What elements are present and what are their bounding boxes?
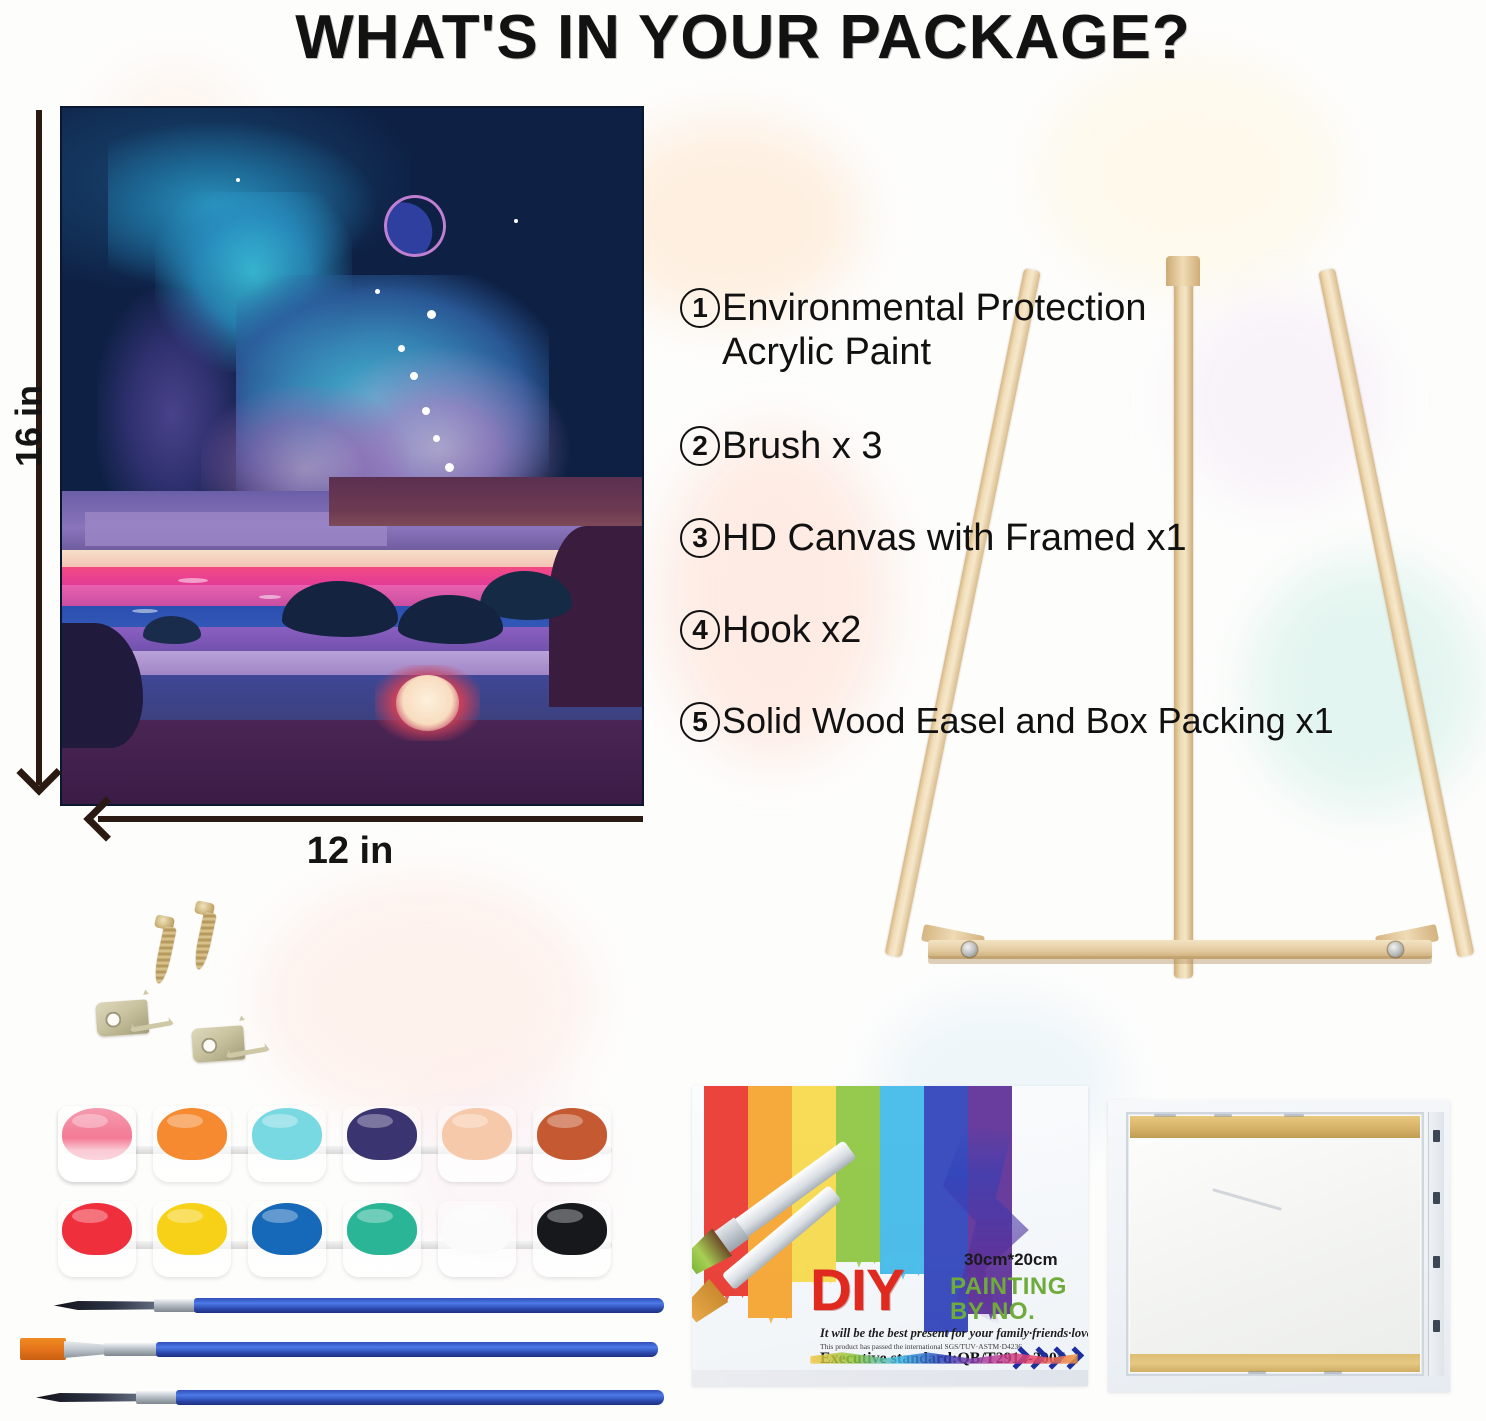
item-number-badge: 3 — [680, 518, 720, 558]
canvas-staple-icon — [1433, 1256, 1440, 1268]
wood-screw-icon — [152, 925, 177, 984]
hanging-hardware — [70, 890, 300, 1080]
paint-pot-rust — [533, 1106, 611, 1182]
paint-pot-light-cyan — [248, 1106, 326, 1182]
width-dimension-label: 12 in — [230, 830, 470, 873]
pot-strip — [64, 1146, 612, 1154]
height-dimension-label: 16 in — [8, 371, 50, 481]
flat-brush-icon — [20, 1342, 658, 1357]
diy-tagline: It will be the best present for your fam… — [820, 1326, 1082, 1341]
diy-brand-text: DIY — [810, 1262, 904, 1320]
round-brush-icon — [54, 1298, 664, 1313]
list-item: 4 Hook x2 — [680, 608, 1480, 652]
painting-preview — [62, 108, 642, 804]
easel-ledge-lip — [928, 956, 1432, 964]
paint-pot-red — [58, 1201, 136, 1277]
package-contents-infographic: WHAT'S IN YOUR PACKAGE? — [0, 0, 1486, 1421]
item-number-badge: 4 — [680, 610, 720, 650]
stretcher-bar-bottom — [1130, 1354, 1420, 1372]
paint-pot-orange — [153, 1106, 231, 1182]
paint-pot — [58, 1106, 136, 1182]
canvas-side-edge — [1428, 1112, 1444, 1376]
diy-size-label: 30cm*20cm — [964, 1250, 1058, 1270]
wood-screw-icon — [192, 911, 217, 970]
list-item: 1 Environmental Protection Acrylic Paint — [680, 286, 1480, 374]
paint-pot-black — [533, 1201, 611, 1277]
easel-screw-left-icon — [962, 942, 977, 957]
pot-strip — [64, 1241, 612, 1249]
paint-brushes — [14, 1292, 674, 1420]
diy-bottom-edge — [692, 1370, 1088, 1386]
canvas-staple-icon — [1433, 1192, 1440, 1204]
height-arrowhead-icon — [16, 750, 61, 795]
easel-apex — [1166, 256, 1200, 286]
diy-subtitle-line2: BY NO. — [950, 1299, 1067, 1324]
canvas-scuff — [1212, 1189, 1282, 1212]
canvas-tick — [1248, 1371, 1266, 1374]
package-items-list: 1 Environmental Protection Acrylic Paint… — [680, 286, 1480, 770]
diy-subtitle-line1: PAINTING — [950, 1274, 1067, 1299]
item-label: Environmental Protection Acrylic Paint — [722, 286, 1147, 374]
canvas-staple-icon — [1433, 1130, 1440, 1142]
paint-pot-white — [438, 1201, 516, 1277]
canvas-staple-icon — [1433, 1320, 1440, 1332]
canvas-back-view — [1108, 1100, 1450, 1392]
canvas-frame — [1126, 1112, 1424, 1376]
item-label: HD Canvas with Framed x1 — [722, 516, 1187, 560]
item-label: Solid Wood Easel and Box Packing x1 — [722, 700, 1334, 742]
item-label: Brush x 3 — [722, 424, 883, 468]
canvas-surface — [1130, 1138, 1420, 1354]
item-label: Hook x2 — [722, 608, 861, 652]
easel-screw-right-icon — [1388, 942, 1403, 957]
canvas-tick — [1154, 1114, 1176, 1117]
list-item: 5 Solid Wood Easel and Box Packing x1 — [680, 700, 1480, 742]
round-brush-icon — [36, 1390, 664, 1405]
item-number-badge: 1 — [680, 288, 720, 328]
d-ring-hook-icon — [190, 1011, 275, 1069]
canvas-tick — [1284, 1114, 1304, 1117]
paint-pot-dark-purple — [343, 1106, 421, 1182]
canvas-tick — [1324, 1371, 1342, 1374]
paint-pot-yellow — [153, 1201, 231, 1277]
paint-pot-teal — [343, 1201, 421, 1277]
stretcher-bar-top — [1130, 1116, 1420, 1138]
list-item: 2 Brush x 3 — [680, 424, 1480, 468]
starry-night-seascape-artwork — [62, 108, 642, 804]
acrylic-paint-pots — [58, 1100, 618, 1290]
diy-box-packaging: DIY 30cm*20cm PAINTING BY NO. It will be… — [692, 1086, 1088, 1386]
item-number-badge: 2 — [680, 426, 720, 466]
list-item: 3 HD Canvas with Framed x1 — [680, 516, 1480, 560]
paint-pot-peach — [438, 1106, 516, 1182]
d-ring-hook-icon — [94, 985, 179, 1043]
paint-pot-blue — [248, 1201, 326, 1277]
diy-subtitle: PAINTING BY NO. — [950, 1274, 1067, 1324]
paint-pot-row-top — [58, 1100, 618, 1195]
item-number-badge: 5 — [680, 702, 720, 742]
watercolor-wash — [260, 880, 590, 1120]
page-title: WHAT'S IN YOUR PACKAGE? — [0, 2, 1486, 73]
width-dimension-arrow — [98, 816, 643, 822]
paint-pot-row-bottom — [58, 1195, 618, 1290]
canvas-tick — [1214, 1114, 1232, 1117]
